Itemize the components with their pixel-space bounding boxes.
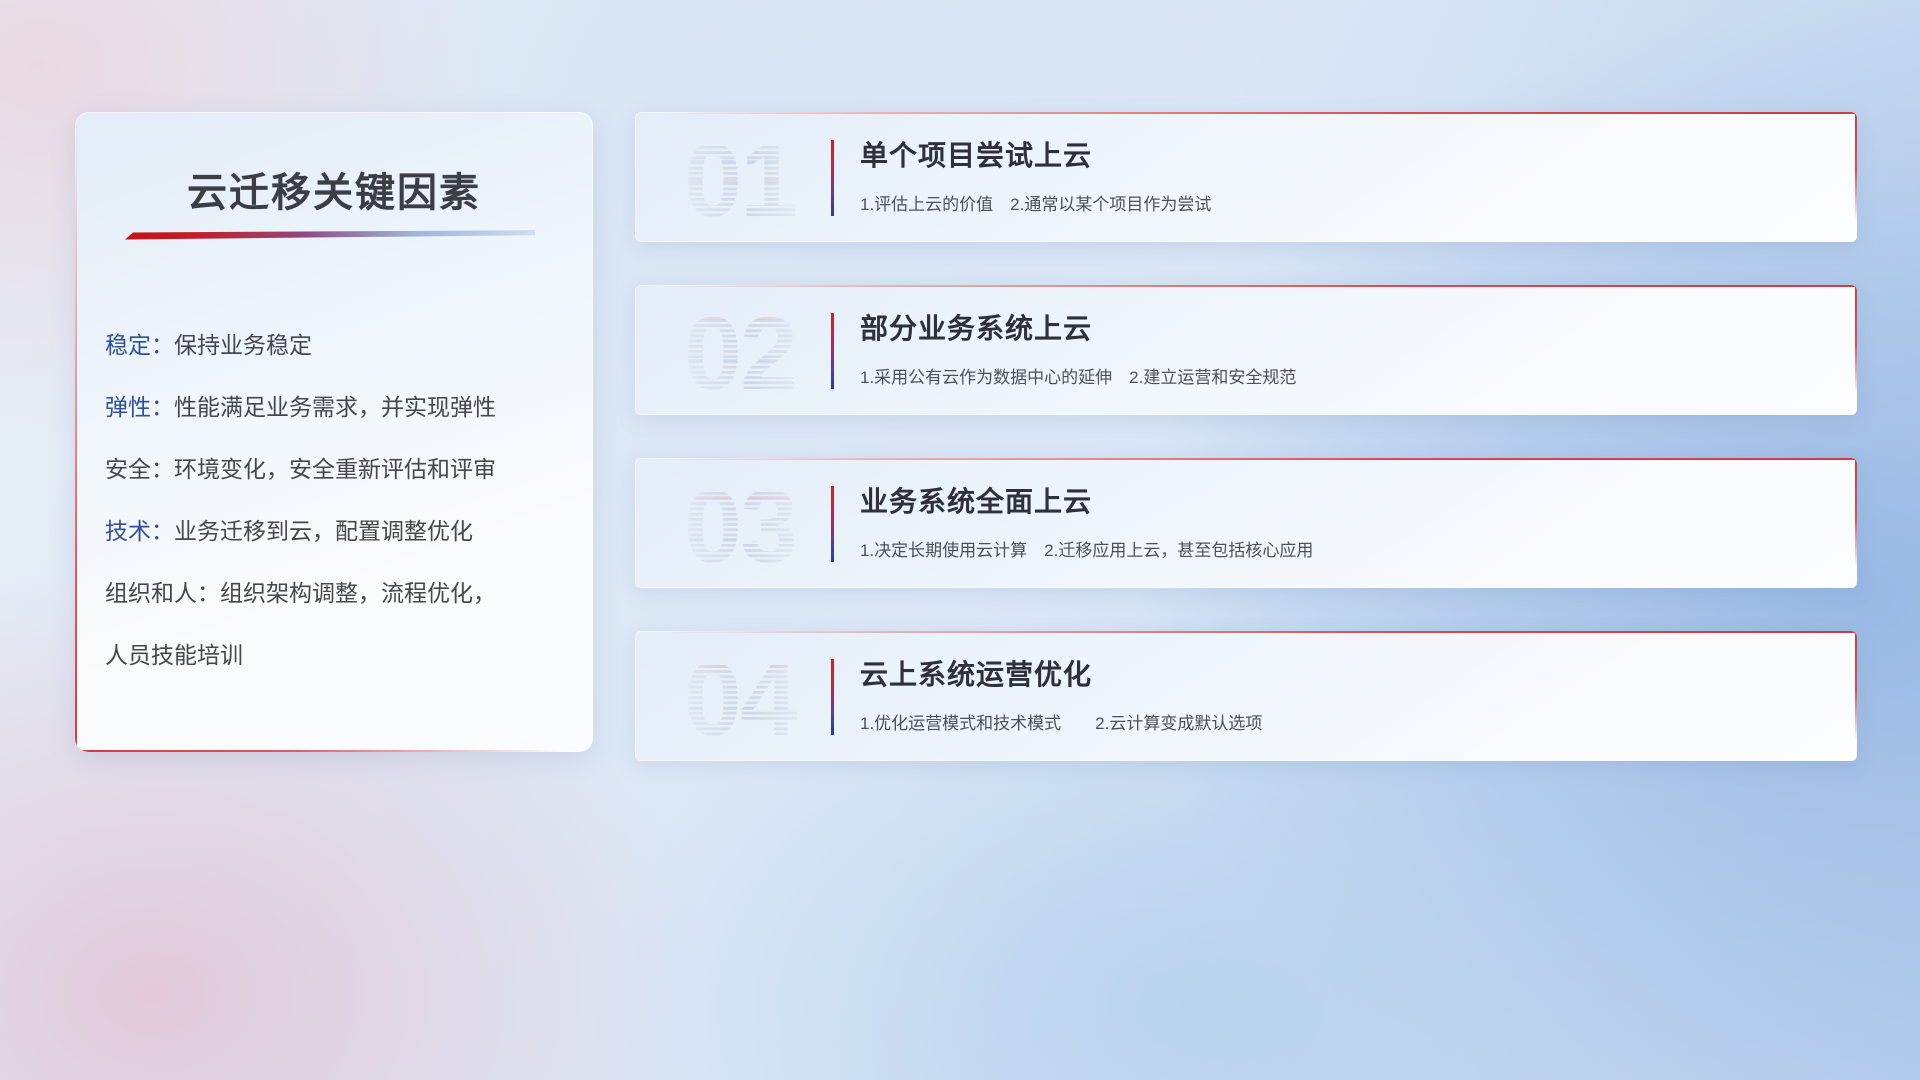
fact-label: 稳定： [105, 326, 174, 360]
fact-label: 安全： [105, 450, 174, 484]
key-factors-list: 稳定： 保持业务稳定 弹性： 性能满足业务需求，并实现弹性 安全： 环境变化，安… [105, 312, 575, 684]
step-accent-divider [831, 486, 834, 562]
step-detail: 1.评估上云的价值 2.通常以某个项目作为尝试 [860, 190, 1817, 215]
step-card[interactable]: 02 部分业务系统上云 1.采用公有云作为数据中心的延伸 2.建立运营和安全规范 [635, 285, 1857, 415]
list-item: 人员技能培训 [105, 622, 575, 684]
list-item: 安全： 环境变化，安全重新评估和评审 [105, 436, 575, 498]
step-heading: 单个项目尝试上云 [860, 134, 1817, 174]
fact-label: 组织和人： [105, 574, 220, 608]
fact-text: 环境变化，安全重新评估和评审 [174, 450, 496, 484]
step-number-watermark: 01 [665, 120, 815, 234]
step-heading: 云上系统运营优化 [860, 653, 1817, 693]
step-number-watermark: 02 [665, 293, 815, 407]
migration-steps-list: 01 单个项目尝试上云 1.评估上云的价值 2.通常以某个项目作为尝试 [635, 112, 1857, 804]
fact-text: 业务迁移到云，配置调整优化 [174, 512, 473, 546]
fact-text: 组织架构调整，流程优化， [220, 574, 496, 608]
title-underline-accent [125, 230, 535, 240]
step-detail: 1.优化运营模式和技术模式 2.云计算变成默认选项 [860, 709, 1817, 734]
step-accent-divider [831, 659, 834, 735]
step-card[interactable]: 03 业务系统全面上云 1.决定长期使用云计算 2.迁移应用上云，甚至包括核心应… [635, 458, 1857, 588]
list-item: 组织和人： 组织架构调整，流程优化， [105, 560, 575, 622]
step-content: 云上系统运营优化 1.优化运营模式和技术模式 2.云计算变成默认选项 [860, 653, 1817, 734]
fact-text: 性能满足业务需求，并实现弹性 [174, 388, 496, 422]
list-item: 弹性： 性能满足业务需求，并实现弹性 [105, 374, 575, 436]
step-number-watermark: 03 [665, 466, 815, 580]
step-card[interactable]: 04 云上系统运营优化 1.优化运营模式和技术模式 2.云计算变成默认选项 [635, 631, 1857, 761]
step-content: 部分业务系统上云 1.采用公有云作为数据中心的延伸 2.建立运营和安全规范 [860, 307, 1817, 388]
step-detail: 1.采用公有云作为数据中心的延伸 2.建立运营和安全规范 [860, 363, 1817, 388]
list-item: 稳定： 保持业务稳定 [105, 312, 575, 374]
key-factors-card: 云迁移关键因素 稳定： 保持业务稳定 弹性： 性能满足业务需求，并实现弹性 安全… [75, 112, 593, 752]
page-title: 云迁移关键因素 [75, 160, 593, 218]
step-heading: 业务系统全面上云 [860, 480, 1817, 520]
fact-label: 技术： [105, 512, 174, 546]
step-heading: 部分业务系统上云 [860, 307, 1817, 347]
fact-text: 保持业务稳定 [174, 326, 312, 360]
list-item: 技术： 业务迁移到云，配置调整优化 [105, 498, 575, 560]
fact-text: 人员技能培训 [105, 636, 243, 670]
step-number-watermark: 04 [665, 639, 815, 753]
step-content: 业务系统全面上云 1.决定长期使用云计算 2.迁移应用上云，甚至包括核心应用 [860, 480, 1817, 561]
step-detail: 1.决定长期使用云计算 2.迁移应用上云，甚至包括核心应用 [860, 536, 1817, 561]
fact-label: 弹性： [105, 388, 174, 422]
step-content: 单个项目尝试上云 1.评估上云的价值 2.通常以某个项目作为尝试 [860, 134, 1817, 215]
step-accent-divider [831, 140, 834, 216]
step-card[interactable]: 01 单个项目尝试上云 1.评估上云的价值 2.通常以某个项目作为尝试 [635, 112, 1857, 242]
step-accent-divider [831, 313, 834, 389]
